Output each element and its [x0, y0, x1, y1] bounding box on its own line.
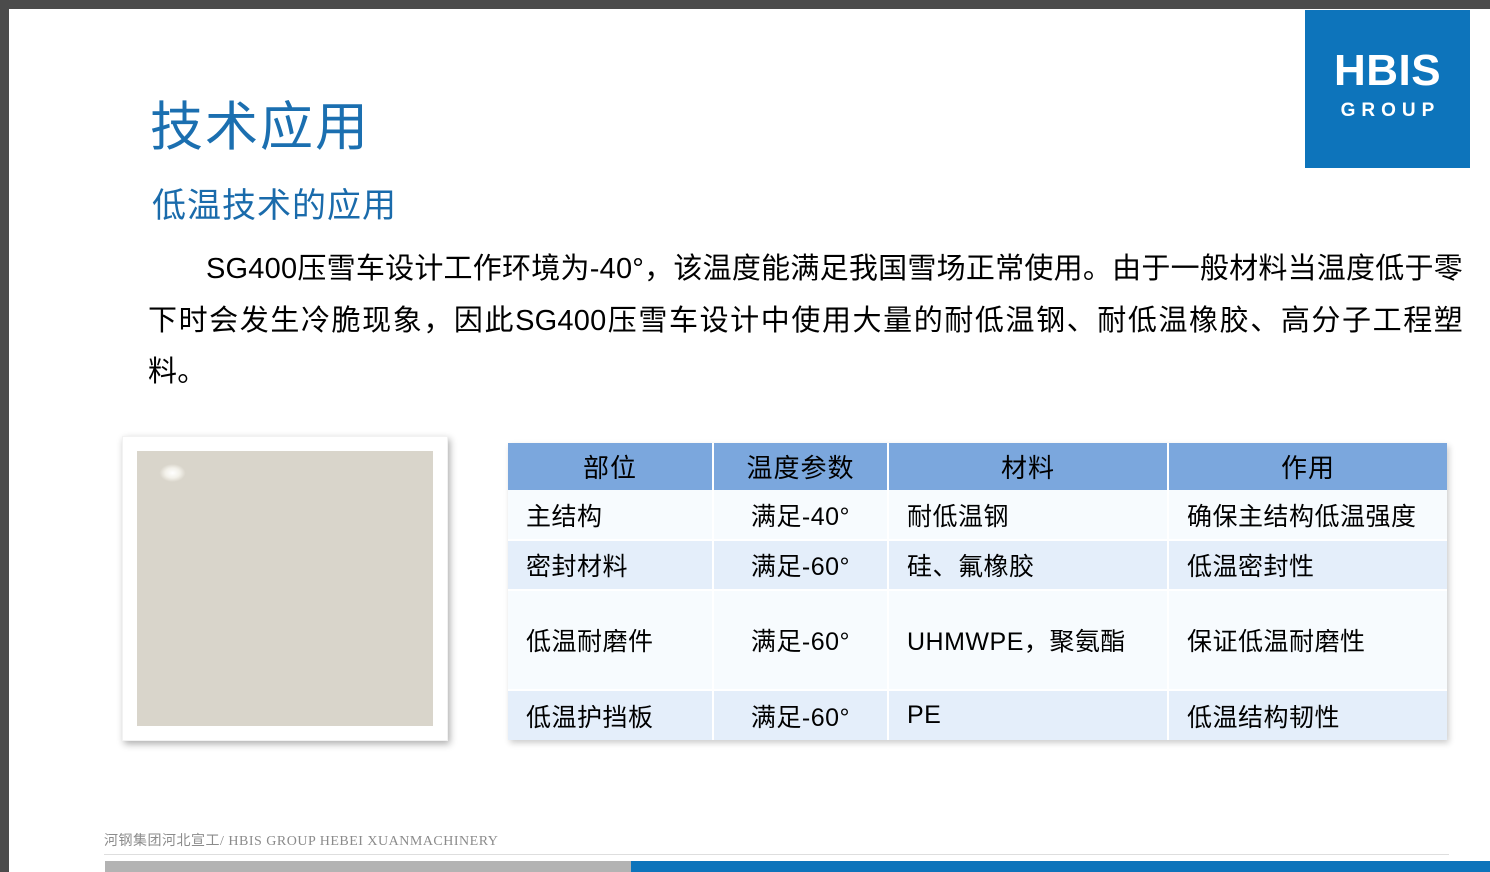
page-subtitle: 低温技术的应用 [152, 188, 397, 225]
low-temperature-spec-table: 部位 温度参数 材料 作用 主结构 满足-40° 耐低温钢 确保主结构低温强度 … [508, 443, 1447, 740]
window-top-bar [0, 0, 1490, 9]
footer-company-line: 河钢集团河北宣工/ HBIS GROUP HEBEI XUANMACHINERY [104, 830, 498, 850]
logo-subwordmark: GROUP [1341, 101, 1441, 120]
cell-temperature: 满足-60° [713, 590, 888, 690]
slide-canvas: HBIS GROUP 技术应用 低温技术的应用 SG400压雪车设计工作环境为-… [0, 0, 1490, 872]
footer-divider [104, 854, 1449, 855]
cell-temperature: 满足-60° [713, 690, 888, 740]
logo-wordmark: HBIS [1334, 49, 1441, 93]
cell-part: 密封材料 [508, 540, 713, 590]
window-left-edge [0, 9, 9, 872]
cell-function: 确保主结构低温强度 [1168, 490, 1447, 540]
footer-bar-gray [105, 861, 631, 872]
cell-function: 保证低温耐磨性 [1168, 590, 1447, 690]
cell-function: 低温密封性 [1168, 540, 1447, 590]
column-header-temperature: 温度参数 [713, 443, 888, 490]
table-row: 低温护挡板 满足-60° PE 低温结构韧性 [508, 690, 1447, 740]
table-row: 主结构 满足-40° 耐低温钢 确保主结构低温强度 [508, 490, 1447, 540]
cell-part: 低温耐磨件 [508, 590, 713, 690]
column-header-function: 作用 [1168, 443, 1447, 490]
body-paragraph: SG400压雪车设计工作环境为-40°，该温度能满足我国雪场正常使用。由于一般材… [148, 244, 1463, 399]
cell-part: 主结构 [508, 490, 713, 540]
page-title: 技术应用 [150, 100, 370, 156]
cell-part: 低温护挡板 [508, 690, 713, 740]
column-header-part: 部位 [508, 443, 713, 490]
cell-material: PE [888, 690, 1168, 740]
cell-material: UHMWPE，聚氨酯 [888, 590, 1168, 690]
cell-temperature: 满足-40° [713, 490, 888, 540]
table-header-row: 部位 温度参数 材料 作用 [508, 443, 1447, 490]
cell-material: 耐低温钢 [888, 490, 1168, 540]
footer-bar-blue [631, 861, 1490, 872]
cell-material: 硅、氟橡胶 [888, 540, 1168, 590]
cell-function: 低温结构韧性 [1168, 690, 1447, 740]
pellets-photo-image [137, 451, 433, 726]
pellets-photo [122, 436, 448, 741]
cell-temperature: 满足-60° [713, 540, 888, 590]
table-row: 密封材料 满足-60° 硅、氟橡胶 低温密封性 [508, 540, 1447, 590]
table-row: 低温耐磨件 满足-60° UHMWPE，聚氨酯 保证低温耐磨性 [508, 590, 1447, 690]
hbis-group-logo: HBIS GROUP [1305, 10, 1470, 168]
column-header-material: 材料 [888, 443, 1168, 490]
